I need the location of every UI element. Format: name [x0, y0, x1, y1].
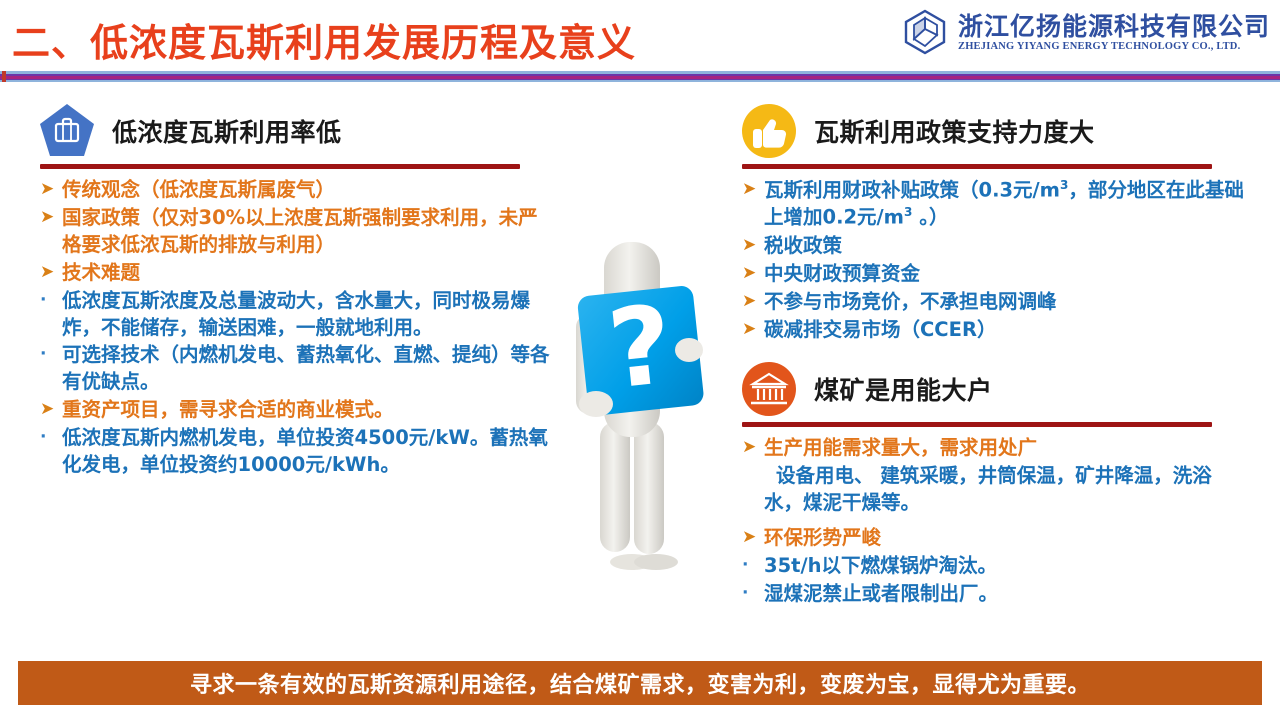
page-title: 二、低浓度瓦斯利用发展历程及意义 [12, 12, 636, 67]
arrow-bullet-icon: ➤ [738, 233, 764, 259]
right-mine-bullet-list: ➤ 生产用能需求量大，需求用处广 [738, 435, 1246, 462]
bullet-text: 不参与市场竞价，不承担电网调峰 [764, 289, 1246, 316]
dot-bullet-icon: · [36, 288, 62, 314]
list-item: ➤ 税收政策 [738, 233, 1246, 260]
bullet-text: 传统观念（低浓度瓦斯属废气） [62, 177, 556, 204]
footer-text: 寻求一条有效的瓦斯资源利用途径，结合煤矿需求，变害为利，变废为宝，显得尤为重要。 [190, 667, 1090, 699]
left-section-underline [40, 164, 520, 169]
list-item: ➤ 瓦斯利用财政补贴政策（0.3元/m3，部分地区在此基础上增加0.2元/m3 … [738, 177, 1246, 232]
slide-header: 二、低浓度瓦斯利用发展历程及意义 浙江亿扬能源科技有限公司 ZHEJIANG Y… [0, 0, 1280, 72]
left-section-header: 低浓度瓦斯利用率低 [36, 100, 556, 162]
arrow-bullet-icon: ➤ [36, 397, 62, 423]
arrow-bullet-icon: ➤ [36, 177, 62, 203]
right-column: 瓦斯利用政策支持力度大 ➤ 瓦斯利用财政补贴政策（0.3元/m3，部分地区在此基… [738, 100, 1246, 609]
person-holding-question-sign: ? [548, 232, 738, 582]
bullet-text: 生产用能需求量大，需求用处广 [764, 435, 1246, 462]
thumbs-up-circle-icon [738, 100, 800, 162]
bullet-text: 重资产项目，需寻求合适的商业模式。 [62, 397, 556, 424]
list-item: ➤ 传统观念（低浓度瓦斯属废气） [36, 177, 556, 204]
bullet-text: 技术难题 [62, 260, 556, 287]
bullet-text: 瓦斯利用财政补贴政策（0.3元/m3，部分地区在此基础上增加0.2元/m3 。） [764, 177, 1246, 232]
dot-bullet-icon: · [738, 581, 764, 607]
right-mine-section-title: 煤矿是用能大户 [814, 371, 993, 407]
hexagon-logo-icon [902, 8, 948, 56]
list-item: ➤ 不参与市场竞价，不承担电网调峰 [738, 289, 1246, 316]
briefcase-pentagon-icon [36, 100, 98, 162]
right-policy-bullet-list: ➤ 瓦斯利用财政补贴政策（0.3元/m3，部分地区在此基础上增加0.2元/m3 … [738, 177, 1246, 343]
dot-bullet-icon: · [36, 342, 62, 368]
header-rule-light-blue-lower [0, 80, 1280, 82]
bullet-text: 35t/h以下燃煤锅炉淘汰。 [764, 553, 1246, 580]
right-policy-section-header: 瓦斯利用政策支持力度大 [738, 100, 1246, 162]
arrow-bullet-icon: ➤ [738, 317, 764, 343]
list-item: · 可选择技术（内燃机发电、蓄热氧化、直燃、提纯）等各有优缺点。 [36, 342, 556, 396]
right-policy-section-title: 瓦斯利用政策支持力度大 [814, 113, 1095, 149]
list-item: · 35t/h以下燃煤锅炉淘汰。 [738, 553, 1246, 580]
bullet-text: 可选择技术（内燃机发电、蓄热氧化、直燃、提纯）等各有优缺点。 [62, 342, 556, 396]
list-item: · 低浓度瓦斯浓度及总量波动大，含水量大，同时极易爆炸，不能储存，输送困难，一般… [36, 288, 556, 342]
left-bullet-list: ➤ 传统观念（低浓度瓦斯属废气） ➤ 国家政策（仅对30%以上浓度瓦斯强制要求利… [36, 177, 556, 479]
question-mark-glyph: ? [603, 283, 678, 414]
left-column: 低浓度瓦斯利用率低 ➤ 传统观念（低浓度瓦斯属废气） ➤ 国家政策（仅对30%以… [36, 100, 556, 480]
mine-continuation-text: 设备用电、 建筑采暖，井筒保温，矿井降温，洗浴水，煤泥干燥等。 [738, 463, 1246, 517]
dot-bullet-icon: · [36, 425, 62, 451]
list-item: ➤ 重资产项目，需寻求合适的商业模式。 [36, 397, 556, 424]
slide-root: 二、低浓度瓦斯利用发展历程及意义 浙江亿扬能源科技有限公司 ZHEJIANG Y… [0, 0, 1280, 720]
bullet-text-part-a: 瓦斯利用财政补贴政策（0.3元/m [764, 179, 1060, 202]
bank-circle-icon [738, 358, 800, 420]
company-name-cn: 浙江亿扬能源科技有限公司 [958, 13, 1270, 40]
bullet-text: 低浓度瓦斯内燃机发电，单位投资4500元/kW。蓄热氧化发电，单位投资约1000… [62, 425, 556, 479]
bullet-text: 国家政策（仅对30%以上浓度瓦斯强制要求利用，未严格要求低浓瓦斯的排放与利用） [62, 205, 556, 259]
bullet-text: 税收政策 [764, 233, 1246, 260]
bullet-text: 中央财政预算资金 [764, 261, 1246, 288]
list-item: ➤ 国家政策（仅对30%以上浓度瓦斯强制要求利用，未严格要求低浓瓦斯的排放与利用… [36, 205, 556, 259]
arrow-bullet-icon: ➤ [738, 261, 764, 287]
header-rule-tick [2, 71, 6, 82]
right-mine-bullet-list-2: ➤ 环保形势严峻 · 35t/h以下燃煤锅炉淘汰。 · 湿煤泥禁止或者限制出厂。 [738, 525, 1246, 608]
list-item: ➤ 技术难题 [36, 260, 556, 287]
list-item: · 湿煤泥禁止或者限制出厂。 [738, 581, 1246, 608]
bullet-text: 低浓度瓦斯浓度及总量波动大，含水量大，同时极易爆炸，不能储存，输送困难，一般就地… [62, 288, 556, 342]
list-item: ➤ 中央财政预算资金 [738, 261, 1246, 288]
dot-bullet-icon: · [738, 553, 764, 579]
right-policy-underline [742, 164, 1212, 169]
right-mine-section-header: 煤矿是用能大户 [738, 358, 1246, 420]
bullet-text-part-c: 。） [912, 206, 948, 229]
arrow-bullet-icon: ➤ [738, 177, 764, 203]
list-item: ➤ 生产用能需求量大，需求用处广 [738, 435, 1246, 462]
header-rule-magenta [0, 76, 1280, 79]
company-logo: 浙江亿扬能源科技有限公司 ZHEJIANG YIYANG ENERGY TECH… [902, 8, 1270, 56]
arrow-bullet-icon: ➤ [36, 205, 62, 231]
list-item: ➤ 碳减排交易市场（CCER） [738, 317, 1246, 344]
arrow-bullet-icon: ➤ [738, 525, 764, 551]
arrow-bullet-icon: ➤ [738, 435, 764, 461]
list-item: · 低浓度瓦斯内燃机发电，单位投资4500元/kW。蓄热氧化发电，单位投资约10… [36, 425, 556, 479]
arrow-bullet-icon: ➤ [738, 289, 764, 315]
bullet-text: 碳减排交易市场（CCER） [764, 317, 1246, 344]
list-item: ➤ 环保形势严峻 [738, 525, 1246, 552]
right-mine-underline [742, 422, 1212, 427]
left-section-title: 低浓度瓦斯利用率低 [112, 113, 342, 149]
company-name-en: ZHEJIANG YIYANG ENERGY TECHNOLOGY CO., L… [958, 41, 1270, 52]
bullet-text: 湿煤泥禁止或者限制出厂。 [764, 581, 1246, 608]
bullet-text: 环保形势严峻 [764, 525, 1246, 552]
arrow-bullet-icon: ➤ [36, 260, 62, 286]
footer-banner: 寻求一条有效的瓦斯资源利用途径，结合煤矿需求，变害为利，变废为宝，显得尤为重要。 [18, 661, 1262, 705]
